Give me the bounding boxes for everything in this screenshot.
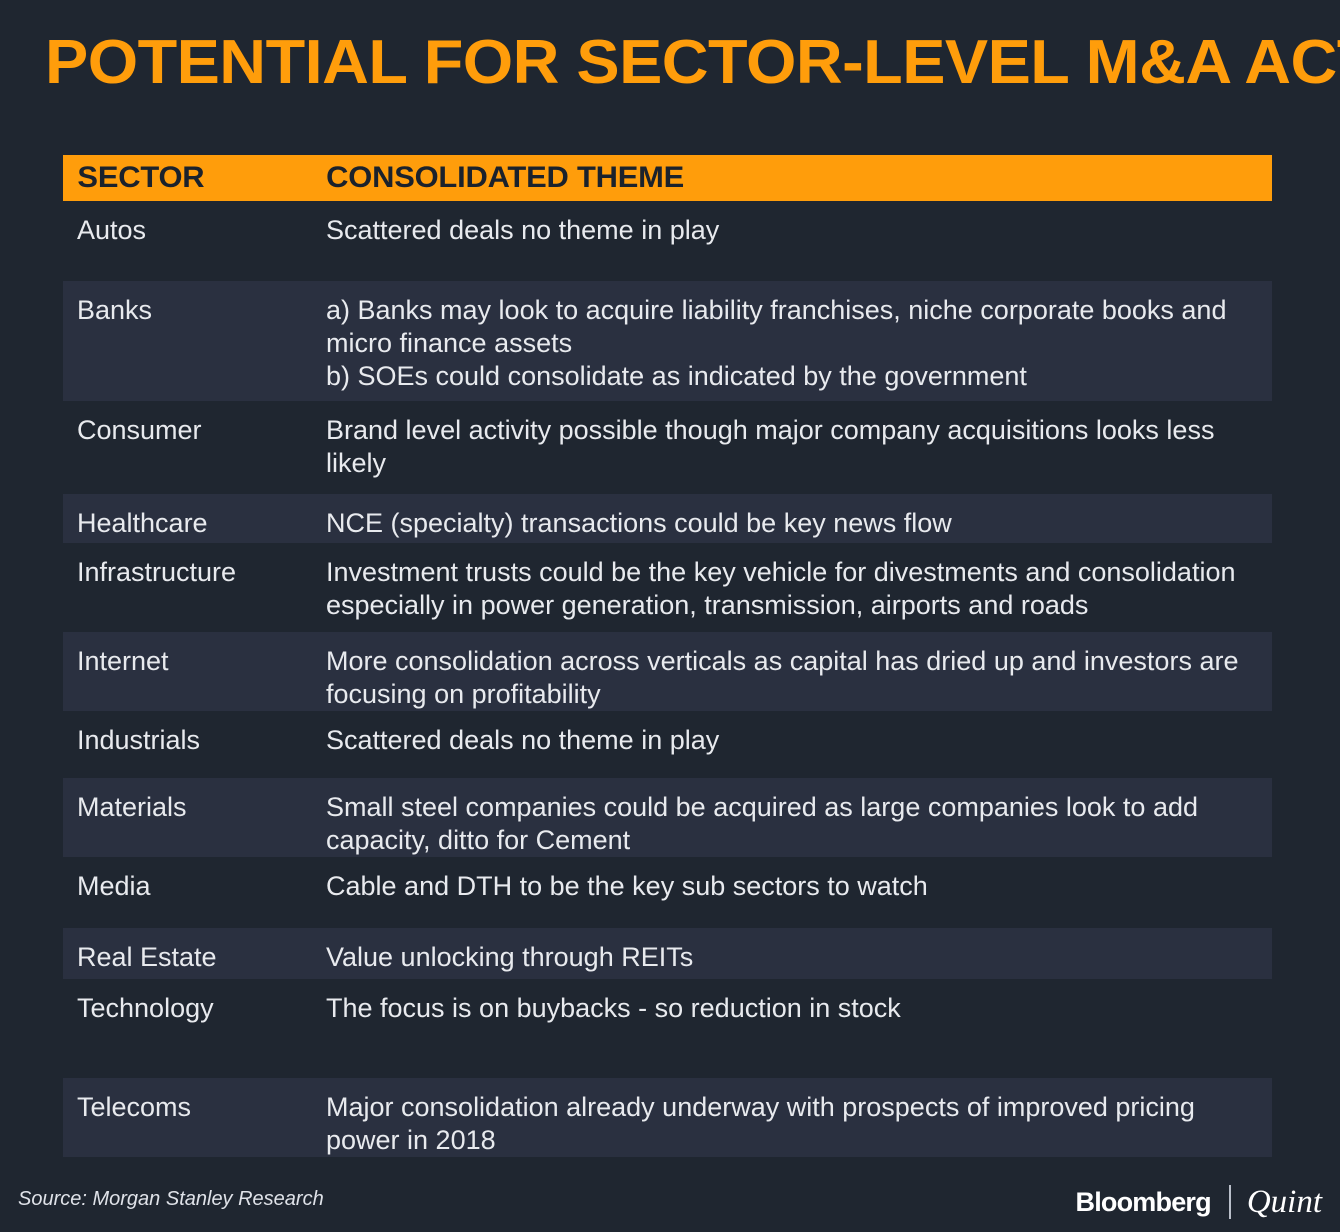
page-title: POTENTIAL FOR SECTOR-LEVEL M&A ACTIVITY	[45, 28, 1340, 98]
table-row: InfrastructureInvestment trusts could be…	[63, 543, 1272, 632]
table-body: AutosScattered deals no theme in playBan…	[63, 201, 1272, 1157]
brand-logo: Bloomberg Quint	[1076, 1184, 1322, 1220]
cell-sector: Industrials	[63, 724, 321, 757]
table-row: IndustrialsScattered deals no theme in p…	[63, 711, 1272, 778]
cell-theme: a) Banks may look to acquire liability f…	[321, 294, 1272, 393]
cell-sector: Telecoms	[63, 1091, 321, 1124]
table-header-row: SECTOR CONSOLIDATED THEME	[63, 155, 1272, 201]
cell-theme: Investment trusts could be the key vehic…	[321, 556, 1272, 622]
cell-theme: Small steel companies could be acquired …	[321, 791, 1272, 857]
table-row: MediaCable and DTH to be the key sub sec…	[63, 857, 1272, 928]
table-row: AutosScattered deals no theme in play	[63, 201, 1272, 281]
cell-sector: Media	[63, 870, 321, 903]
cell-theme: Major consolidation already underway wit…	[321, 1091, 1272, 1157]
cell-sector: Banks	[63, 294, 321, 327]
bloomberg-wordmark: Bloomberg	[1076, 1187, 1211, 1217]
column-header-consolidated-theme: CONSOLIDATED THEME	[321, 161, 1301, 195]
cell-theme: Brand level activity possible though maj…	[321, 414, 1272, 480]
sector-theme-table: SECTOR CONSOLIDATED THEME AutosScattered…	[63, 155, 1272, 1157]
cell-sector: Consumer	[63, 414, 321, 447]
cell-theme: Scattered deals no theme in play	[321, 214, 1272, 247]
table-row: InternetMore consolidation across vertic…	[63, 632, 1272, 711]
cell-theme: NCE (specialty) transactions could be ke…	[321, 507, 1272, 540]
cell-sector: Real Estate	[63, 941, 321, 974]
table-row: HealthcareNCE (specialty) transactions c…	[63, 494, 1272, 543]
brand-divider	[1229, 1185, 1231, 1219]
cell-sector: Materials	[63, 791, 321, 824]
table-row: TechnologyThe focus is on buybacks - so …	[63, 979, 1272, 1078]
cell-theme: Cable and DTH to be the key sub sectors …	[321, 870, 1272, 903]
cell-theme: The focus is on buybacks - so reduction …	[321, 992, 1272, 1025]
cell-sector: Autos	[63, 214, 321, 247]
cell-sector: Infrastructure	[63, 556, 321, 589]
table-row: TelecomsMajor consolidation already unde…	[63, 1078, 1272, 1157]
column-header-sector: SECTOR	[63, 161, 329, 195]
table-row: MaterialsSmall steel companies could be …	[63, 778, 1272, 857]
table-row: ConsumerBrand level activity possible th…	[63, 401, 1272, 494]
quint-wordmark: Quint	[1247, 1185, 1322, 1219]
table-row: Banksa) Banks may look to acquire liabil…	[63, 281, 1272, 401]
table-row: Real EstateValue unlocking through REITs	[63, 928, 1272, 979]
cell-sector: Internet	[63, 645, 321, 678]
cell-sector: Healthcare	[63, 507, 321, 540]
cell-sector: Technology	[63, 992, 321, 1025]
source-note: Source: Morgan Stanley Research	[18, 1188, 324, 1211]
cell-theme: More consolidation across verticals as c…	[321, 645, 1272, 711]
cell-theme: Value unlocking through REITs	[321, 941, 1272, 974]
infographic-page: POTENTIAL FOR SECTOR-LEVEL M&A ACTIVITY …	[0, 0, 1340, 1232]
cell-theme: Scattered deals no theme in play	[321, 724, 1272, 757]
